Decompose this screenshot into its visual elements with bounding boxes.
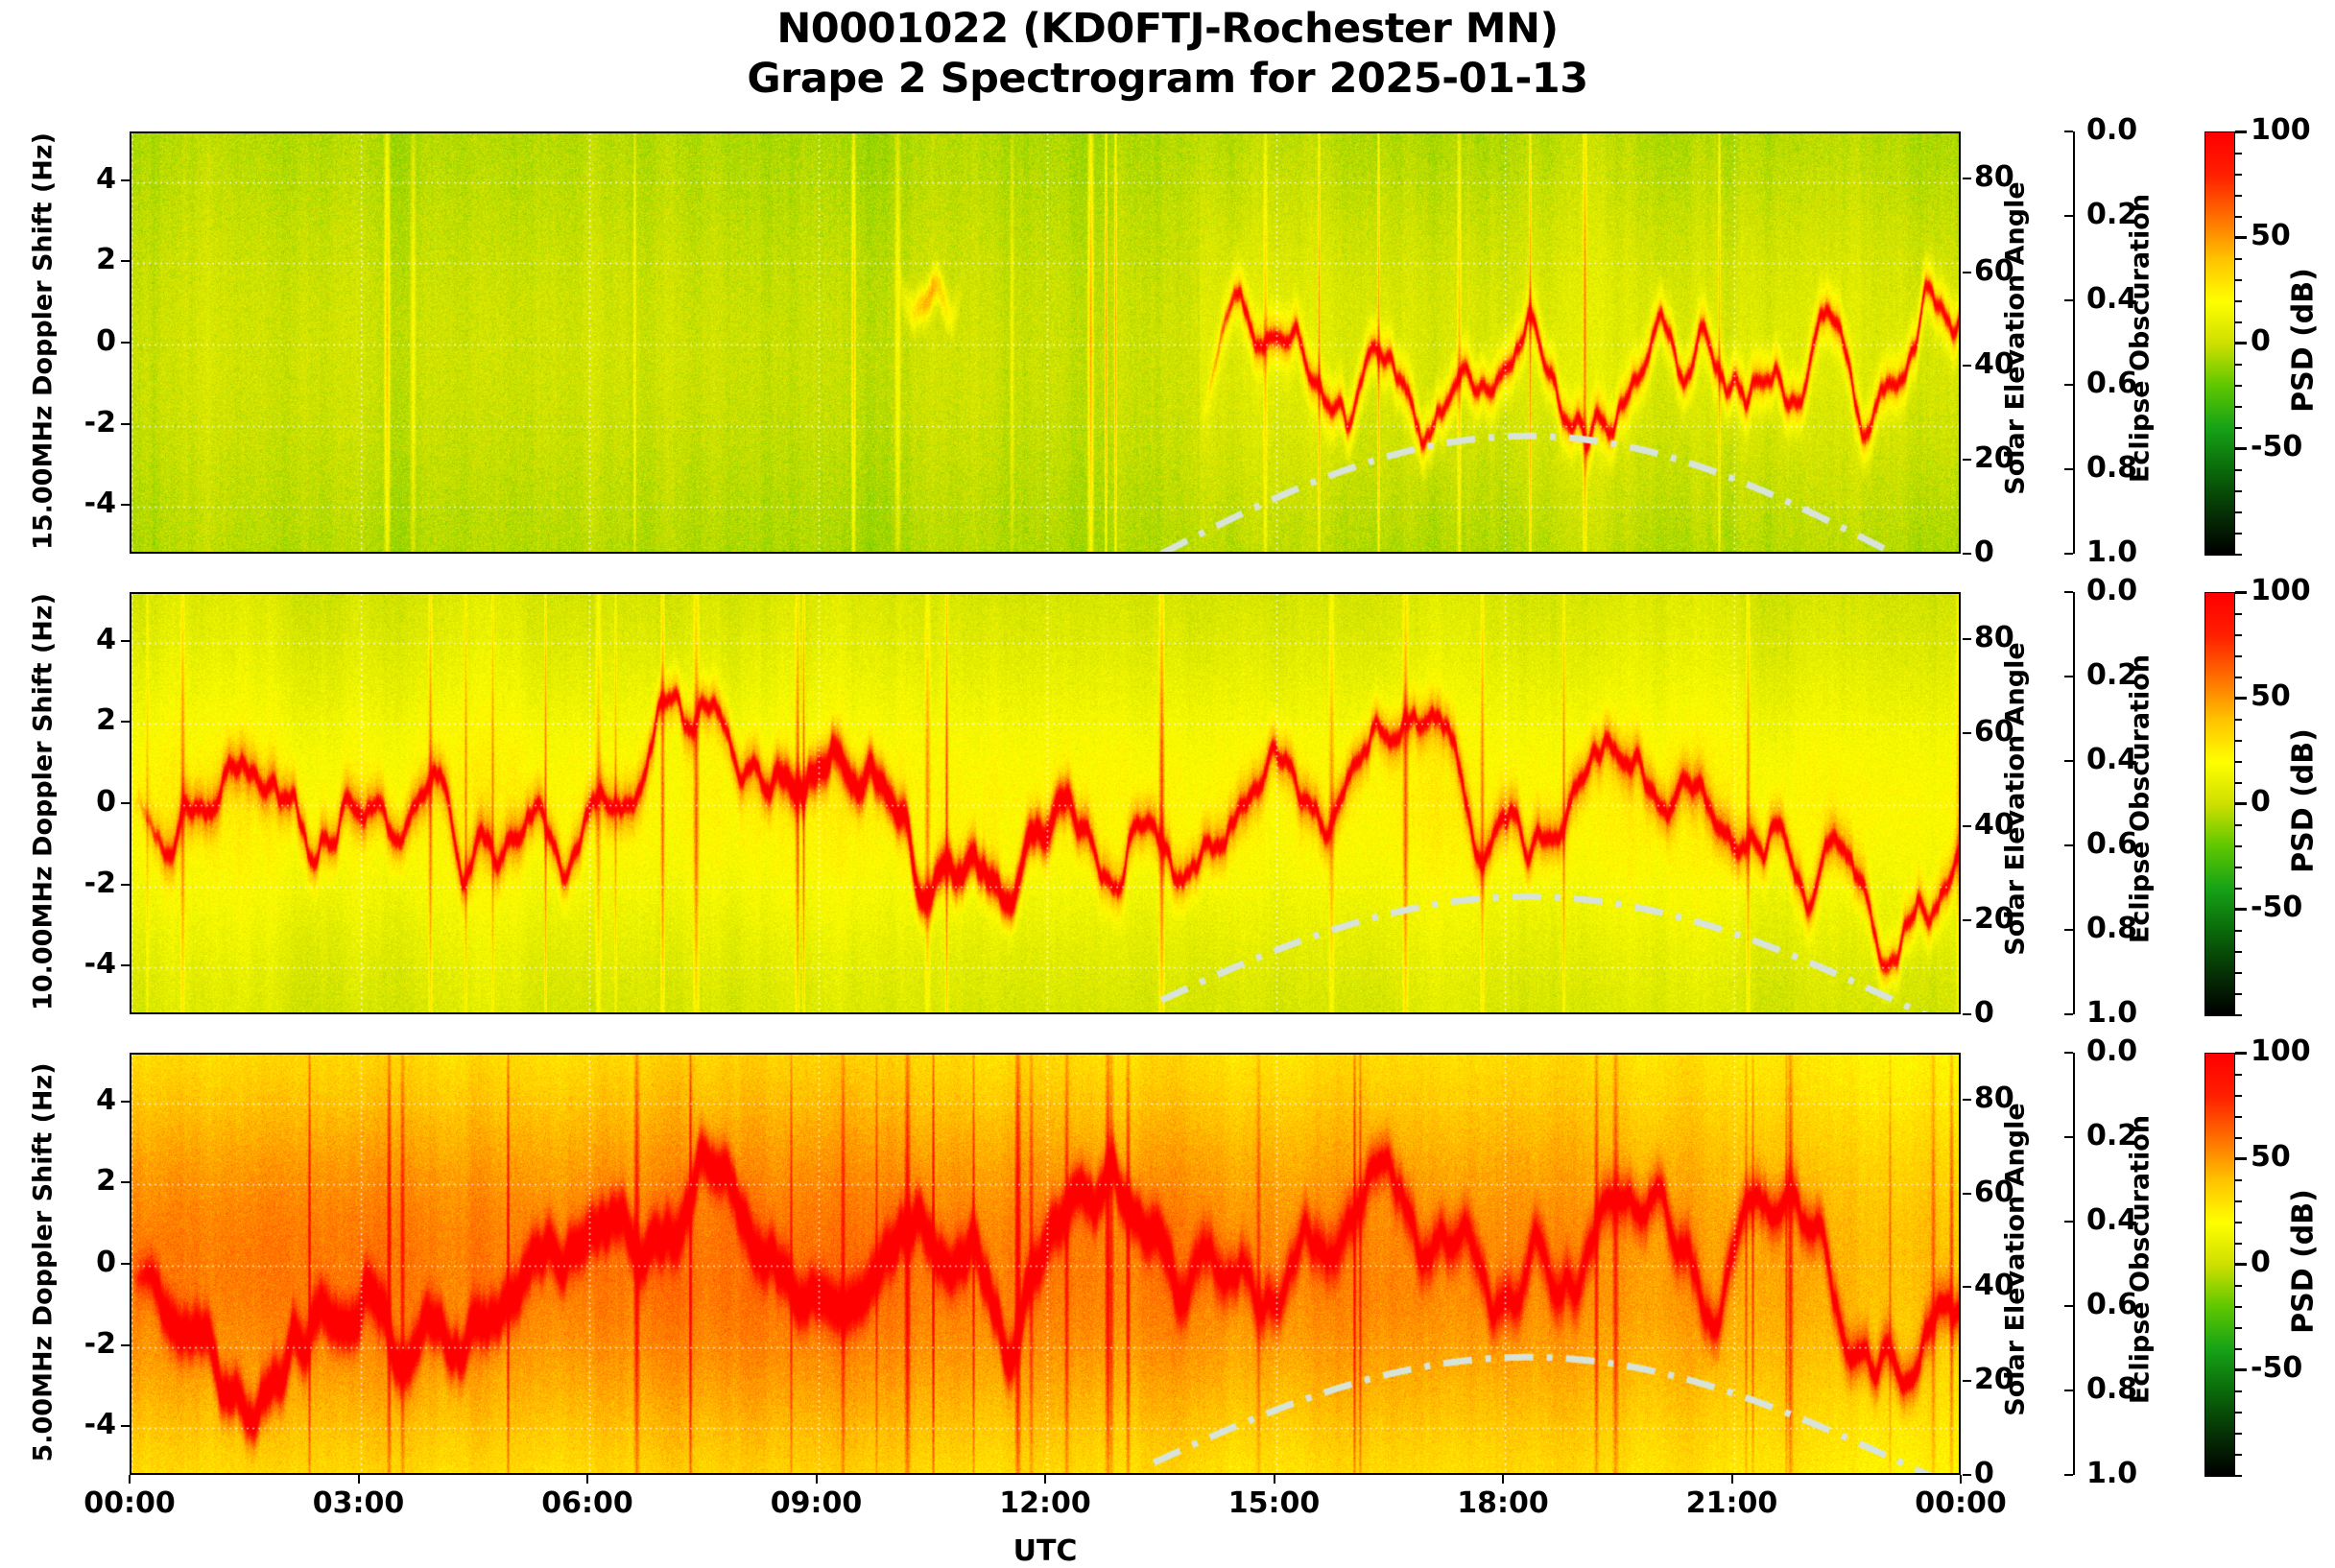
x-tick-label: 06:00 xyxy=(520,1486,655,1520)
y-tick-mark xyxy=(121,1425,130,1427)
colorbar-axis-label: PSD (dB) xyxy=(2287,1051,2321,1473)
y-tick-mark xyxy=(121,964,130,966)
eclipse-obscuration-spine xyxy=(2073,592,2075,1014)
colorbar-minor-tick xyxy=(2235,321,2242,323)
colorbar-minor-tick xyxy=(2235,174,2242,176)
colorbar-minor-tick xyxy=(2235,1285,2242,1287)
colorbar-minor-tick xyxy=(2235,279,2242,281)
x-tick-mark xyxy=(586,1475,588,1484)
spectrogram-canvas xyxy=(131,594,1961,1014)
x-tick-label: 00:00 xyxy=(1894,1486,2028,1520)
colorbar-minor-tick xyxy=(2235,592,2242,594)
colorbar-minor-tick xyxy=(2235,1390,2242,1392)
colorbar-minor-tick xyxy=(2235,1116,2242,1118)
eclipse-obscuration-spine xyxy=(2073,131,2075,554)
x-tick-mark xyxy=(1044,1475,1046,1484)
solar-elevation-tick-mark xyxy=(1963,1380,1971,1382)
y-tick-label: -4 xyxy=(66,1408,116,1441)
eclipse-obscuration-tick-mark xyxy=(2064,1474,2073,1476)
spectrogram-canvas xyxy=(131,1055,1961,1475)
solar-elevation-tick-label: 0 xyxy=(1974,1457,1994,1490)
title-line-2: Grape 2 Spectrogram for 2025-01-13 xyxy=(0,54,2335,104)
x-tick-mark xyxy=(129,1475,131,1484)
eclipse-obscuration-axis-label: Eclipse Obscuration xyxy=(2126,128,2156,550)
x-tick-label: 21:00 xyxy=(1665,1486,1799,1520)
x-tick-mark xyxy=(1731,1475,1733,1484)
colorbar-minor-tick xyxy=(2235,406,2242,408)
colorbar-tick-label: 0 xyxy=(2251,1246,2271,1279)
colorbar-minor-tick xyxy=(2235,195,2242,197)
eclipse-obscuration-tick-mark xyxy=(2064,1136,2073,1138)
spectrogram-panel-10.00mhz[interactable] xyxy=(130,592,1961,1014)
y-tick-mark xyxy=(121,179,130,181)
psd-colorbar[interactable] xyxy=(2204,131,2235,556)
title-line-1: N0001022 (KD0FTJ-Rochester MN) xyxy=(0,4,2335,54)
y-axis-label: 10.00MHz Doppler Shift (Hz) xyxy=(28,591,60,1013)
y-tick-label: 4 xyxy=(66,623,116,656)
colorbar-tick-label: 50 xyxy=(2251,679,2291,713)
eclipse-obscuration-tick-mark xyxy=(2064,215,2073,217)
psd-colorbar[interactable] xyxy=(2204,592,2235,1016)
y-tick-label: -2 xyxy=(66,1327,116,1361)
solar-elevation-tick-mark xyxy=(1963,825,1971,827)
eclipse-obscuration-tick-mark xyxy=(2064,1052,2073,1054)
x-tick-label: 15:00 xyxy=(1207,1486,1342,1520)
y-tick-mark xyxy=(121,423,130,425)
colorbar-minor-tick xyxy=(2235,1454,2242,1456)
solar-elevation-tick-mark xyxy=(1963,178,1971,179)
colorbar-minor-tick xyxy=(2235,237,2242,239)
colorbar-minor-tick xyxy=(2235,131,2242,133)
colorbar-tick-label: 50 xyxy=(2251,1140,2291,1174)
colorbar-minor-tick xyxy=(2235,1074,2242,1076)
solar-elevation-tick-mark xyxy=(1963,732,1971,734)
colorbar-minor-tick xyxy=(2235,153,2242,154)
y-tick-mark xyxy=(121,884,130,886)
solar-elevation-tick-label: 0 xyxy=(1974,996,1994,1030)
colorbar-minor-tick xyxy=(2235,448,2242,450)
y-tick-label: -2 xyxy=(66,406,116,440)
colorbar-minor-tick xyxy=(2235,1327,2242,1329)
eclipse-obscuration-tick-mark xyxy=(2064,384,2073,386)
colorbar-minor-tick xyxy=(2235,300,2242,302)
eclipse-obscuration-tick-mark xyxy=(2064,1390,2073,1391)
y-tick-label: -2 xyxy=(66,867,116,900)
x-tick-mark xyxy=(1274,1475,1275,1484)
colorbar-minor-tick xyxy=(2235,888,2242,890)
y-tick-mark xyxy=(121,1263,130,1265)
colorbar-minor-tick xyxy=(2235,803,2242,805)
y-tick-mark xyxy=(121,640,130,642)
spectrogram-panel-5.00mhz[interactable] xyxy=(130,1053,1961,1475)
y-axis-label: 15.00MHz Doppler Shift (Hz) xyxy=(28,131,60,553)
colorbar-axis-label: PSD (dB) xyxy=(2287,590,2321,1012)
colorbar-minor-tick xyxy=(2235,782,2242,784)
colorbar-minor-tick xyxy=(2235,1243,2242,1245)
solar-elevation-tick-mark xyxy=(1963,459,1971,461)
y-tick-mark xyxy=(121,342,130,344)
solar-elevation-tick-mark xyxy=(1963,272,1971,273)
colorbar-minor-tick xyxy=(2235,824,2242,826)
y-tick-mark xyxy=(121,721,130,723)
eclipse-obscuration-tick-mark xyxy=(2064,676,2073,677)
colorbar-axis-label: PSD (dB) xyxy=(2287,130,2321,552)
colorbar-minor-tick xyxy=(2235,972,2242,974)
colorbar-minor-tick xyxy=(2235,655,2242,657)
y-tick-mark xyxy=(121,1101,130,1103)
solar-elevation-axis-label: Solar Elevation Angle xyxy=(2001,128,2031,550)
eclipse-obscuration-tick-mark xyxy=(2064,591,2073,593)
eclipse-obscuration-axis-label: Eclipse Obscuration xyxy=(2126,1049,2156,1471)
eclipse-obscuration-tick-mark xyxy=(2064,468,2073,470)
colorbar-minor-tick xyxy=(2235,719,2242,721)
eclipse-obscuration-axis-label: Eclipse Obscuration xyxy=(2126,588,2156,1010)
x-tick-mark xyxy=(1502,1475,1504,1484)
x-tick-label: 12:00 xyxy=(978,1486,1112,1520)
y-tick-label: 0 xyxy=(66,324,116,358)
colorbar-minor-tick xyxy=(2235,427,2242,429)
eclipse-obscuration-tick-mark xyxy=(2064,760,2073,762)
colorbar-minor-tick xyxy=(2235,698,2242,700)
y-tick-mark xyxy=(121,504,130,506)
y-tick-mark xyxy=(121,1181,130,1183)
psd-colorbar[interactable] xyxy=(2204,1053,2235,1477)
colorbar-tick-label: 50 xyxy=(2251,219,2291,252)
spectrogram-canvas xyxy=(131,133,1961,554)
solar-elevation-tick-mark xyxy=(1963,365,1971,367)
y-tick-mark xyxy=(121,802,130,804)
colorbar-minor-tick xyxy=(2235,490,2242,492)
solar-elevation-tick-mark xyxy=(1963,553,1971,555)
y-tick-label: 4 xyxy=(66,162,116,196)
y-tick-label: 2 xyxy=(66,243,116,276)
colorbar-minor-tick xyxy=(2235,1306,2242,1308)
y-tick-label: 4 xyxy=(66,1083,116,1117)
y-tick-label: 2 xyxy=(66,1164,116,1198)
x-tick-mark xyxy=(816,1475,818,1484)
colorbar-minor-tick xyxy=(2235,258,2242,260)
colorbar-minor-tick xyxy=(2235,761,2242,763)
eclipse-obscuration-tick-mark xyxy=(2064,929,2073,931)
colorbar-minor-tick xyxy=(2235,867,2242,868)
colorbar-minor-tick xyxy=(2235,1264,2242,1266)
x-tick-label: 18:00 xyxy=(1436,1486,1570,1520)
colorbar-minor-tick xyxy=(2235,993,2242,995)
solar-elevation-tick-mark xyxy=(1963,1286,1971,1288)
x-tick-label: 03:00 xyxy=(292,1486,426,1520)
y-tick-label: -4 xyxy=(66,487,116,520)
y-tick-label: -4 xyxy=(66,947,116,981)
eclipse-obscuration-tick-mark xyxy=(2064,1305,2073,1307)
solar-elevation-tick-mark xyxy=(1963,919,1971,921)
eclipse-obscuration-tick-mark xyxy=(2064,844,2073,846)
page-title: N0001022 (KD0FTJ-Rochester MN) Grape 2 S… xyxy=(0,4,2335,104)
solar-elevation-axis-label: Solar Elevation Angle xyxy=(2001,1049,2031,1471)
colorbar-tick-label: 0 xyxy=(2251,324,2271,358)
colorbar-minor-tick xyxy=(2235,1222,2242,1224)
colorbar-minor-tick xyxy=(2235,1412,2242,1414)
colorbar-minor-tick xyxy=(2235,385,2242,387)
y-tick-mark xyxy=(121,260,130,262)
eclipse-obscuration-spine xyxy=(2073,1053,2075,1475)
colorbar-minor-tick xyxy=(2235,1348,2242,1350)
colorbar-tick-label: 0 xyxy=(2251,785,2271,819)
x-axis-label: UTC xyxy=(949,1534,1141,1568)
colorbar-minor-tick xyxy=(2235,511,2242,513)
colorbar-minor-tick xyxy=(2235,533,2242,535)
solar-elevation-tick-mark xyxy=(1963,1474,1971,1476)
y-tick-label: 0 xyxy=(66,785,116,819)
colorbar-minor-tick xyxy=(2235,1179,2242,1181)
eclipse-obscuration-tick-mark xyxy=(2064,131,2073,132)
y-tick-mark xyxy=(121,1344,130,1346)
colorbar-minor-tick xyxy=(2235,1137,2242,1139)
x-tick-label: 09:00 xyxy=(750,1486,884,1520)
colorbar-minor-tick xyxy=(2235,1095,2242,1097)
colorbar-minor-tick xyxy=(2235,634,2242,636)
colorbar-minor-tick xyxy=(2235,216,2242,218)
eclipse-obscuration-tick-mark xyxy=(2064,1221,2073,1223)
x-tick-label: 00:00 xyxy=(62,1486,197,1520)
colorbar-minor-tick xyxy=(2235,1053,2242,1055)
y-tick-label: 0 xyxy=(66,1246,116,1279)
eclipse-obscuration-tick-mark xyxy=(2064,1013,2073,1015)
eclipse-obscuration-tick-mark xyxy=(2064,299,2073,301)
colorbar-minor-tick xyxy=(2235,1158,2242,1160)
colorbar-minor-tick xyxy=(2235,1475,2242,1477)
colorbar-minor-tick xyxy=(2235,1014,2242,1016)
colorbar-minor-tick xyxy=(2235,469,2242,471)
solar-elevation-axis-label: Solar Elevation Angle xyxy=(2001,588,2031,1010)
solar-elevation-tick-mark xyxy=(1963,1099,1971,1101)
colorbar-minor-tick xyxy=(2235,909,2242,911)
colorbar-minor-tick xyxy=(2235,554,2242,556)
colorbar-minor-tick xyxy=(2235,740,2242,742)
colorbar-minor-tick xyxy=(2235,930,2242,932)
colorbar-minor-tick xyxy=(2235,1433,2242,1435)
colorbar-minor-tick xyxy=(2235,1369,2242,1371)
solar-elevation-tick-mark xyxy=(1963,1013,1971,1015)
solar-elevation-tick-mark xyxy=(1963,1193,1971,1195)
colorbar-minor-tick xyxy=(2235,1200,2242,1202)
colorbar-minor-tick xyxy=(2235,364,2242,366)
colorbar-minor-tick xyxy=(2235,677,2242,678)
x-tick-mark xyxy=(1960,1475,1962,1484)
eclipse-obscuration-tick-mark xyxy=(2064,553,2073,555)
colorbar-minor-tick xyxy=(2235,343,2242,344)
colorbar-minor-tick xyxy=(2235,951,2242,953)
spectrogram-panel-15.00mhz[interactable] xyxy=(130,131,1961,554)
y-axis-label: 5.00MHz Doppler Shift (Hz) xyxy=(28,1052,60,1474)
solar-elevation-tick-mark xyxy=(1963,638,1971,640)
y-tick-label: 2 xyxy=(66,703,116,737)
colorbar-minor-tick xyxy=(2235,613,2242,615)
colorbar-minor-tick xyxy=(2235,845,2242,847)
solar-elevation-tick-label: 0 xyxy=(1974,535,1994,569)
x-tick-mark xyxy=(358,1475,360,1484)
